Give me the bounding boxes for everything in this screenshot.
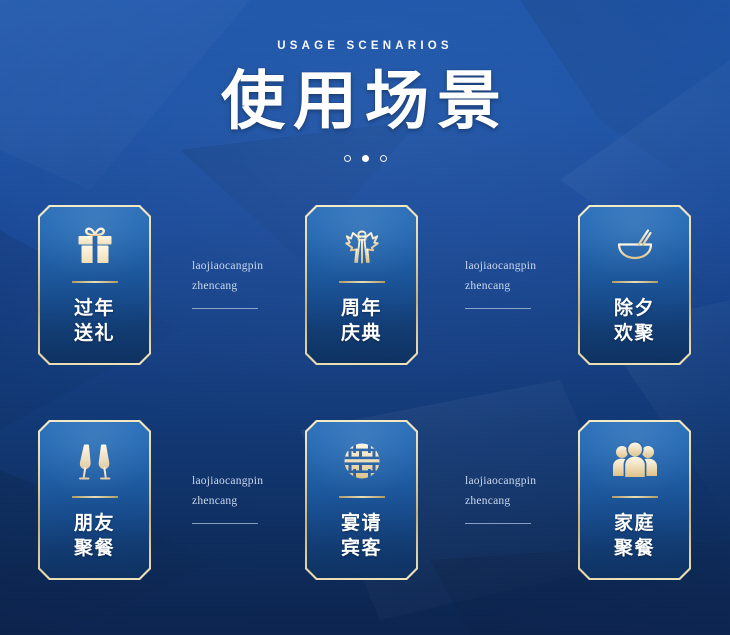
card-label: 朋友 聚餐 [74,512,115,561]
card-divider [72,496,118,498]
double-happiness-seal-icon [307,428,416,494]
noodle-bowl-icon [580,213,689,279]
carousel-dots[interactable] [0,155,730,162]
champagne-toast-icon [40,428,149,494]
card-label: 家庭 聚餐 [614,512,655,561]
caption-rule [192,308,258,309]
page-header: USAGE SCENARIOS 使用场景 [0,0,730,162]
scenario-row: 过年 送礼 laojiaocangpin zhencang [0,205,730,365]
caption-rule [465,523,531,524]
eyebrow-text: USAGE SCENARIOS [0,40,730,52]
scenario-card-yanqing-binke[interactable]: 宴请 宾客 [305,420,418,580]
scenario-card-chuxi-huanju[interactable]: 除夕 欢聚 [578,205,691,365]
card-divider [339,496,385,498]
scenario-card-zhounian-qingdian[interactable]: 周年 庆典 [305,205,418,365]
caption-rule [192,523,258,524]
carousel-dot-3[interactable] [380,155,387,162]
card-divider [612,281,658,283]
card-label: 除夕 欢聚 [614,297,655,346]
carousel-dot-1[interactable] [344,155,351,162]
caption-rule [465,308,531,309]
poster-canvas: USAGE SCENARIOS 使用场景 [0,0,730,635]
card-divider [339,281,385,283]
scenario-grid: 过年 送礼 laojiaocangpin zhencang [0,205,730,635]
card-divider [72,281,118,283]
card-label: 过年 送礼 [74,297,115,346]
family-group-icon [580,428,689,494]
scenario-card-jiating-jucan[interactable]: 家庭 聚餐 [578,420,691,580]
scenario-row: 朋友 聚餐 laojiaocangpin zhencang [0,420,730,580]
carousel-dot-2[interactable] [362,155,369,162]
card-label: 周年 庆典 [341,297,382,346]
page-title: 使用场景 [0,69,730,133]
gift-icon [40,213,149,279]
scenario-card-pengyou-jucan[interactable]: 朋友 聚餐 [38,420,151,580]
card-label: 宴请 宾客 [341,512,382,561]
firework-icon [307,213,416,279]
card-divider [612,496,658,498]
scenario-card-guonian-songli[interactable]: 过年 送礼 [38,205,151,365]
